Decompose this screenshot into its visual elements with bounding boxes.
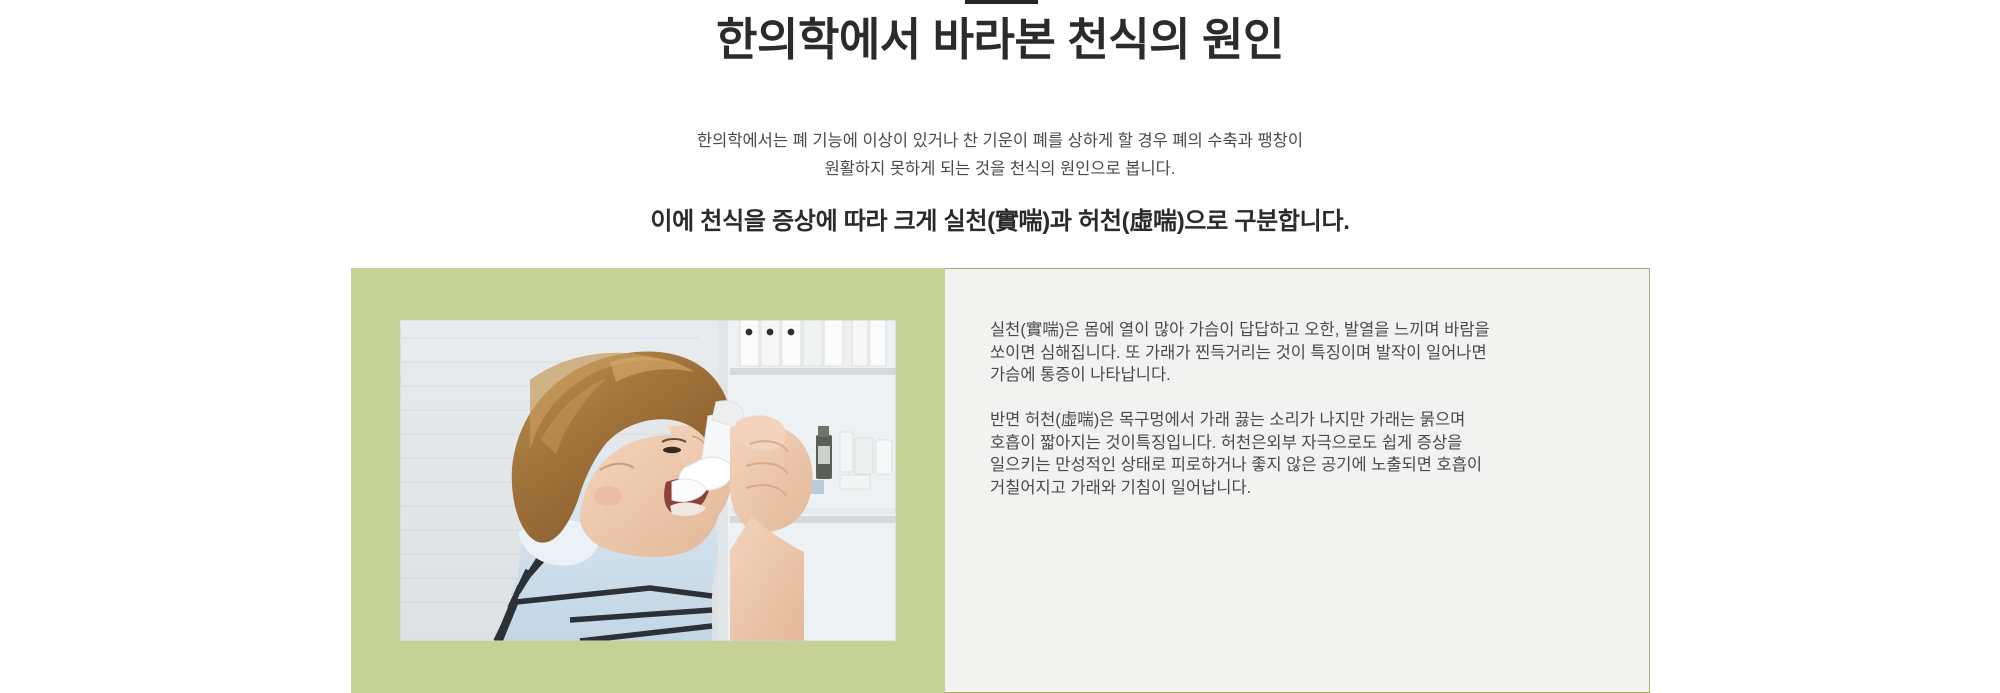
paragraph-line: 호흡이 짧아지는 것이특징입니다. 허천은외부 자극으로도 쉽게 증상을 (990, 432, 1629, 455)
paragraph-line: 거칠어지고 가래와 기침이 일어납니다. (990, 477, 1629, 500)
content-card: 실천(實喘)은 몸에 열이 많아 가슴이 답답하고 오한, 발열을 느끼며 바람… (351, 268, 1650, 693)
lead-paragraph: 한의학에서는 폐 기능에 이상이 있거나 찬 기운이 폐를 상하게 할 경우 폐… (0, 127, 2000, 183)
paragraph-heocheon: 반면 허천(虛喘)은 목구멍에서 가래 끓는 소리가 나지만 가래는 묽으며 호… (990, 409, 1629, 499)
page-title: 한의학에서 바라본 천식의 원인 (0, 12, 2000, 68)
paragraph-line: 실천(實喘)은 몸에 열이 많아 가슴이 답답하고 오한, 발열을 느끼며 바람… (990, 319, 1629, 342)
inhaler-photo (400, 320, 896, 641)
paragraph-silcheon: 실천(實喘)은 몸에 열이 많아 가슴이 답답하고 오한, 발열을 느끼며 바람… (990, 319, 1629, 387)
card-body-copy: 실천(實喘)은 몸에 열이 많아 가슴이 답답하고 오한, 발열을 느끼며 바람… (990, 319, 1629, 499)
paragraph-line: 쏘이면 심해집니다. 또 가래가 찐득거리는 것이 특징이며 발작이 일어나면 (990, 342, 1629, 365)
emphasis-statement: 이에 천식을 증상에 따라 크게 실천(實喘)과 허천(虛喘)으로 구분합니다. (0, 205, 2000, 239)
title-divider-rule (965, 0, 1038, 4)
lead-line-1: 한의학에서는 폐 기능에 이상이 있거나 찬 기운이 폐를 상하게 할 경우 폐… (0, 127, 2000, 155)
paragraph-line: 반면 허천(虛喘)은 목구멍에서 가래 끓는 소리가 나지만 가래는 묽으며 (990, 409, 1629, 432)
page-root: 한의학에서 바라본 천식의 원인 한의학에서는 폐 기능에 이상이 있거나 찬 … (0, 0, 2000, 693)
paragraph-line: 가슴에 통증이 나타납니다. (990, 364, 1629, 387)
paragraph-line: 일으키는 만성적인 상태로 피로하거나 좋지 않은 공기에 노출되면 호흡이 (990, 454, 1629, 477)
lead-line-2: 원활하지 못하게 되는 것을 천식의 원인으로 봅니다. (0, 155, 2000, 183)
card-photo-panel (351, 268, 945, 693)
card-text-panel: 실천(實喘)은 몸에 열이 많아 가슴이 답답하고 오한, 발열을 느끼며 바람… (945, 268, 1650, 693)
